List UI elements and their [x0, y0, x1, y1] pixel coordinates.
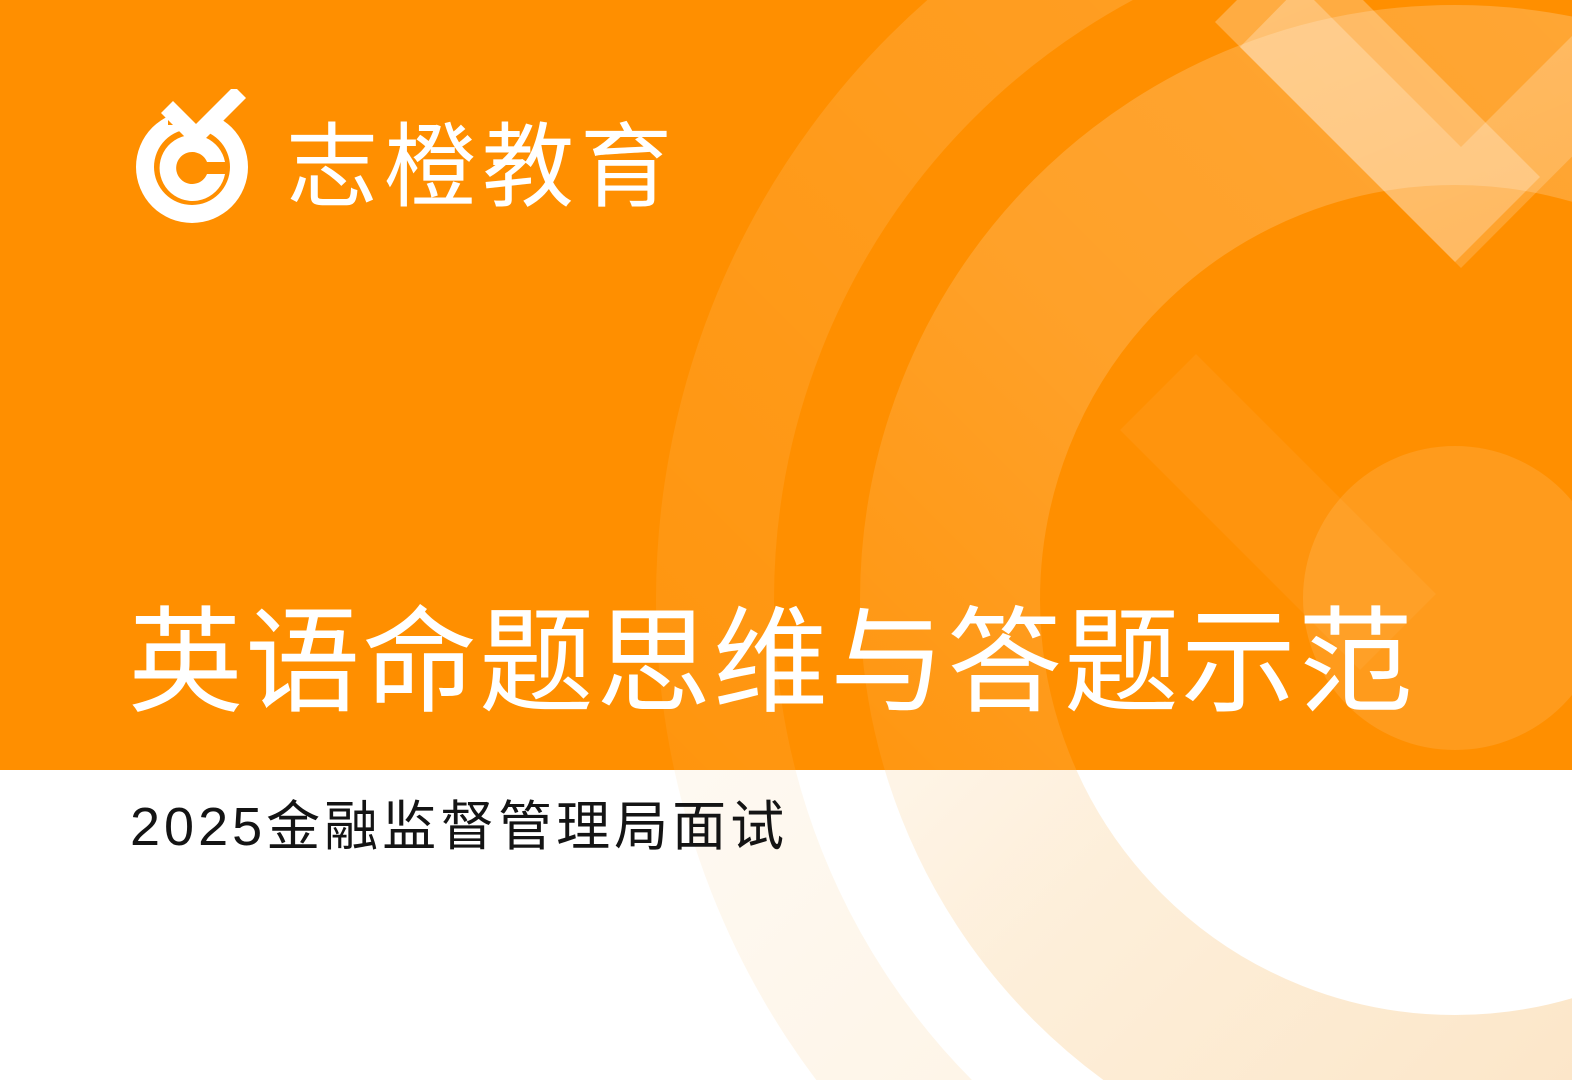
slide-content: 志橙教育 英语命题思维与答题示范 2025金融监督管理局面试: [0, 0, 1572, 1080]
cover-slide: 志橙教育 英语命题思维与答题示范 2025金融监督管理局面试: [0, 0, 1572, 1080]
page-title: 英语命题思维与答题示范: [128, 600, 1415, 727]
brand-name: 志橙教育: [286, 122, 678, 214]
zhicheng-check-circle-logo-icon: [124, 89, 260, 239]
page-subtitle: 2025金融监督管理局面试: [130, 798, 788, 857]
brand-lockup: 志橙教育: [124, 84, 678, 244]
